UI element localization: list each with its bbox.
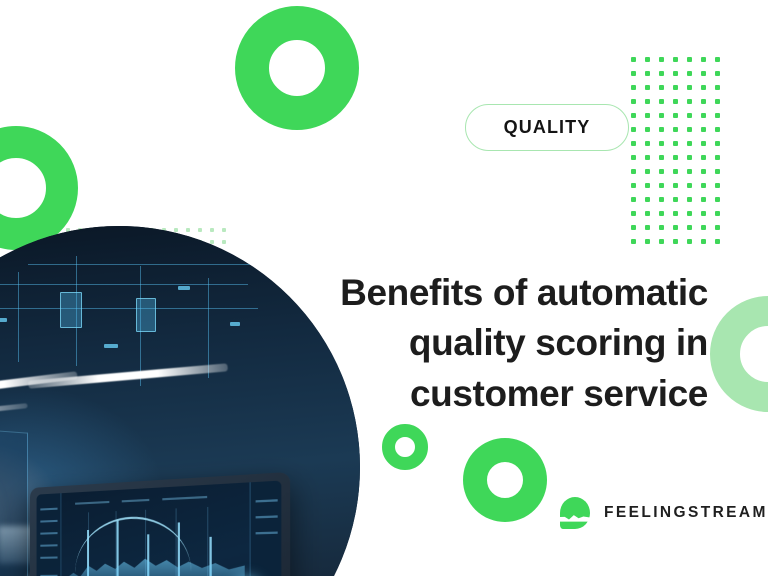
- grid-dot: [673, 225, 678, 230]
- grid-dot: [645, 197, 650, 202]
- grid-dot: [687, 113, 692, 118]
- grid-dot: [715, 71, 720, 76]
- grid-dot: [631, 239, 636, 244]
- grid-dot: [715, 85, 720, 90]
- grid-dot: [645, 113, 650, 118]
- grid-dot: [687, 225, 692, 230]
- grid-dot: [645, 211, 650, 216]
- grid-dot: [715, 155, 720, 160]
- brand-logo[interactable]: FEELINGSTREAM: [560, 497, 768, 529]
- grid-dot: [687, 141, 692, 146]
- grid-dot: [645, 141, 650, 146]
- headline-line-1: Benefits of automatic: [260, 268, 708, 318]
- decorative-ring-right-pale: [710, 296, 768, 412]
- grid-dot: [701, 197, 706, 202]
- grid-dot: [659, 113, 664, 118]
- grid-dot: [659, 239, 664, 244]
- brand-wordmark: FEELINGSTREAM: [604, 504, 768, 522]
- grid-dot: [631, 141, 636, 146]
- grid-dot: [631, 197, 636, 202]
- grid-dot: [701, 57, 706, 62]
- grid-dot: [659, 71, 664, 76]
- decorative-ring-top: [235, 6, 359, 130]
- grid-dot: [631, 183, 636, 188]
- grid-dot: [673, 155, 678, 160]
- grid-dot: [687, 127, 692, 132]
- dot-grid-top-right: [631, 57, 729, 253]
- grid-dot: [701, 113, 706, 118]
- grid-dot: [659, 169, 664, 174]
- grid-dot: [687, 85, 692, 90]
- grid-dot: [659, 85, 664, 90]
- grid-dot: [687, 183, 692, 188]
- category-badge[interactable]: QUALITY: [465, 104, 629, 151]
- grid-dot: [687, 155, 692, 160]
- decorative-ring-mid: [463, 438, 547, 522]
- grid-dot: [645, 57, 650, 62]
- grid-dot: [715, 57, 720, 62]
- grid-dot: [687, 211, 692, 216]
- grid-dot: [673, 211, 678, 216]
- grid-dot: [659, 99, 664, 104]
- grid-dot: [701, 99, 706, 104]
- grid-dot: [659, 57, 664, 62]
- grid-dot: [645, 155, 650, 160]
- grid-dot: [701, 225, 706, 230]
- grid-dot: [701, 127, 706, 132]
- grid-dot: [673, 141, 678, 146]
- grid-dot: [673, 99, 678, 104]
- cover-canvas: QUALITY Benefits of automatic quality sc…: [0, 0, 768, 576]
- grid-dot: [631, 71, 636, 76]
- grid-dot: [715, 225, 720, 230]
- grid-dot: [715, 197, 720, 202]
- grid-dot: [673, 127, 678, 132]
- grid-dot: [701, 239, 706, 244]
- grid-dot: [673, 197, 678, 202]
- grid-dot: [701, 141, 706, 146]
- grid-dot: [715, 99, 720, 104]
- grid-dot: [659, 141, 664, 146]
- decorative-ring-small: [382, 424, 428, 470]
- grid-dot: [701, 183, 706, 188]
- grid-dot: [673, 57, 678, 62]
- grid-dot: [687, 169, 692, 174]
- grid-dot: [701, 155, 706, 160]
- headline-line-2: quality scoring in: [260, 318, 708, 368]
- grid-dot: [701, 169, 706, 174]
- grid-dot: [631, 57, 636, 62]
- grid-dot: [673, 183, 678, 188]
- grid-dot: [631, 85, 636, 90]
- grid-dot: [631, 211, 636, 216]
- grid-dot: [673, 113, 678, 118]
- grid-dot: [631, 99, 636, 104]
- grid-dot: [715, 169, 720, 174]
- grid-dot: [659, 211, 664, 216]
- grid-dot: [715, 239, 720, 244]
- grid-dot: [715, 183, 720, 188]
- grid-dot: [715, 141, 720, 146]
- headline-line-3: customer service: [260, 369, 708, 419]
- grid-dot: [631, 169, 636, 174]
- grid-dot: [673, 239, 678, 244]
- grid-dot: [687, 99, 692, 104]
- grid-dot: [673, 71, 678, 76]
- grid-dot: [673, 169, 678, 174]
- grid-dot: [715, 127, 720, 132]
- grid-dot: [659, 155, 664, 160]
- grid-dot: [645, 239, 650, 244]
- grid-dot: [645, 169, 650, 174]
- grid-dot: [701, 71, 706, 76]
- category-badge-label: QUALITY: [504, 117, 591, 138]
- grid-dot: [701, 211, 706, 216]
- grid-dot: [659, 183, 664, 188]
- grid-dot: [687, 197, 692, 202]
- grid-dot: [631, 225, 636, 230]
- grid-dot: [659, 197, 664, 202]
- grid-dot: [687, 239, 692, 244]
- grid-dot: [701, 85, 706, 90]
- grid-dot: [645, 99, 650, 104]
- grid-dot: [645, 127, 650, 132]
- page-title: Benefits of automatic quality scoring in…: [260, 268, 708, 419]
- speech-bubble-waveform-icon: [560, 497, 590, 529]
- grid-dot: [687, 57, 692, 62]
- grid-dot: [631, 113, 636, 118]
- grid-dot: [687, 71, 692, 76]
- grid-dot: [645, 71, 650, 76]
- grid-dot: [645, 85, 650, 90]
- grid-dot: [659, 127, 664, 132]
- grid-dot: [715, 211, 720, 216]
- grid-dot: [715, 113, 720, 118]
- grid-dot: [645, 225, 650, 230]
- grid-dot: [659, 225, 664, 230]
- grid-dot: [631, 127, 636, 132]
- grid-dot: [645, 183, 650, 188]
- grid-dot: [631, 155, 636, 160]
- monitor-illustration: [30, 472, 290, 576]
- grid-dot: [673, 85, 678, 90]
